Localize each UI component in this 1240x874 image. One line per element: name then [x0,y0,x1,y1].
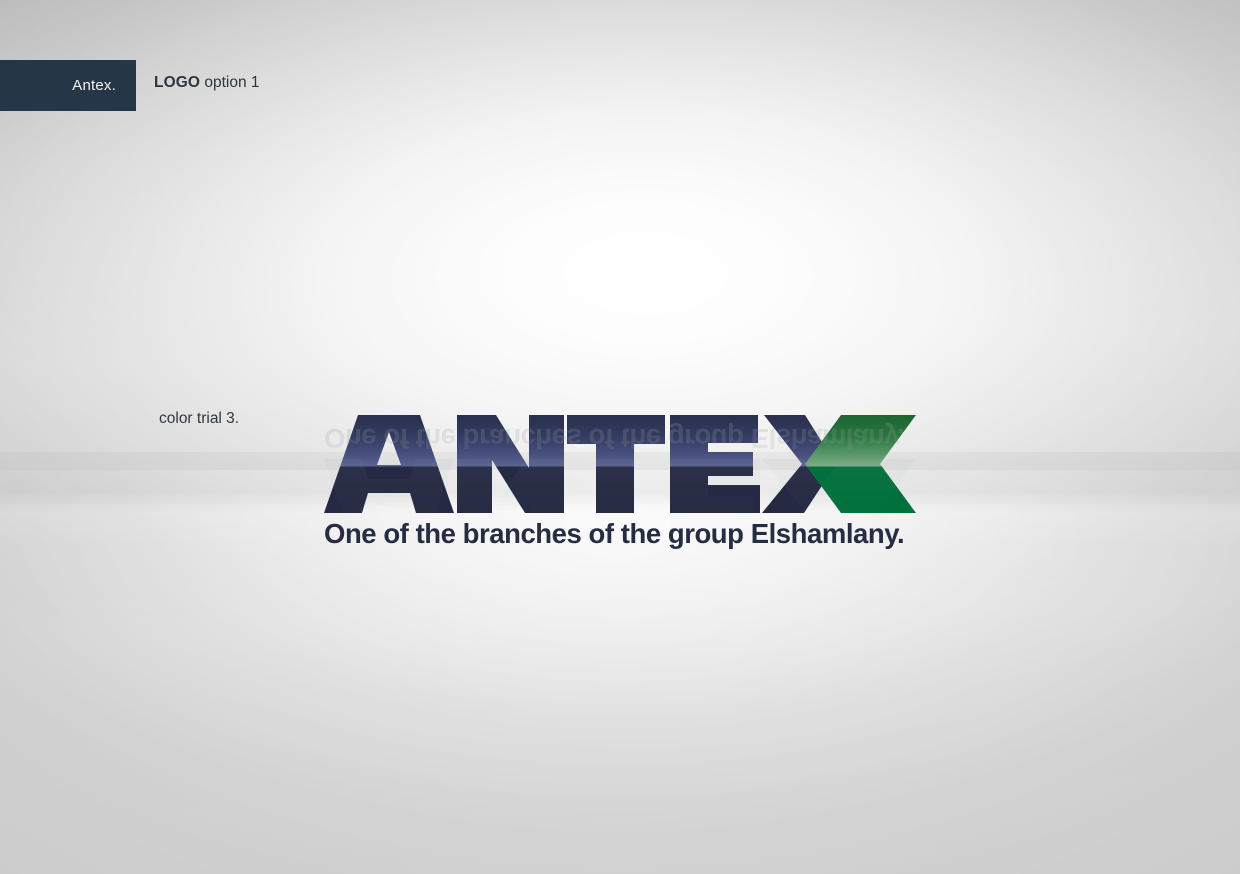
slide-title-strong: LOGO [154,74,200,91]
slide-title: LOGO option 1 [154,74,260,92]
wordmark-row [324,412,916,516]
logo-tagline: One of the branches of the group Elshaml… [324,520,916,548]
logo-lockup: One of the branches of the group Elshaml… [324,412,916,558]
double-chevron-left-icon [805,415,916,513]
logo-presentation-canvas: Antex. LOGO option 1 color trial 3. [0,0,1240,874]
brand-tab[interactable]: Antex. [0,60,136,111]
brand-tab-label: Antex. [72,77,116,94]
slide-title-rest: option 1 [200,74,259,91]
color-trial-caption: color trial 3. [159,410,239,428]
antex-wordmark-graphic [324,412,916,516]
